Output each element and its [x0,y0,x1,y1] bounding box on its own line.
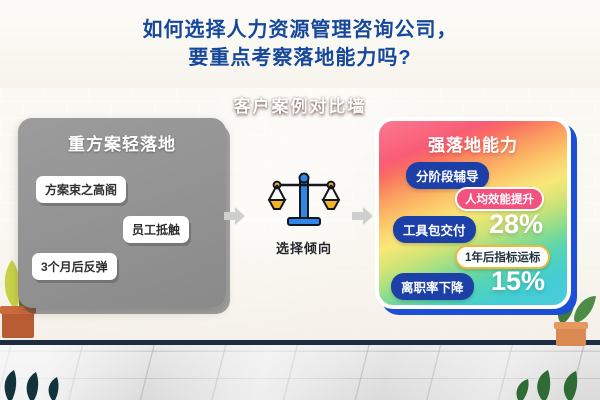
right-tag-toolkit-delivery[interactable]: 工具包交付 [393,216,476,243]
right-comparison-panel[interactable]: 强落地能力 分阶段辅导 人均效能提升 工具包交付 1年后指标运标 离职率下降 2… [375,117,571,309]
floor-plant-right-icon [496,350,600,400]
balance-scale-icon [268,170,340,232]
page-title-line-2: 要重点考察落地能力吗? [188,47,411,70]
right-tag-phased-coaching[interactable]: 分阶段辅导 [406,162,489,189]
floor-plant-left-icon [0,352,96,400]
left-panel-title: 重方案轻落地 [18,130,226,155]
page-title-line-1: 如何选择人力资源管理咨询公司， [143,19,458,42]
left-comparison-panel[interactable]: 重方案轻落地 方案束之高阁 员工抵触 3个月后反弹 [18,118,226,308]
stat-turnover-value: 15% [491,266,545,297]
left-tag-3[interactable]: 3个月后反弹 [32,253,117,280]
left-tag-1[interactable]: 方案束之高阁 [36,176,126,203]
right-tag-turnover-drop[interactable]: 离职率下降 [391,273,474,300]
center-label: 选择倾向 [276,238,332,257]
poster-canvas: 客户案例对比墙 如何选择人力资源管理咨询公司， 要重点考察落地能力吗? 重方案轻… [0,0,600,400]
right-panel-title: 强落地能力 [379,131,567,156]
left-tag-2[interactable]: 员工抵触 [123,216,189,243]
poster-title-band: 如何选择人力资源管理咨询公司， 要重点考察落地能力吗? [0,0,600,88]
section-heading: 客户案例对比墙 [0,92,600,117]
stat-efficiency-value: 28% [489,209,543,240]
right-tag-efficiency-gain[interactable]: 人均效能提升 [455,187,544,211]
center-balance-group: 选择倾向 [238,170,370,257]
